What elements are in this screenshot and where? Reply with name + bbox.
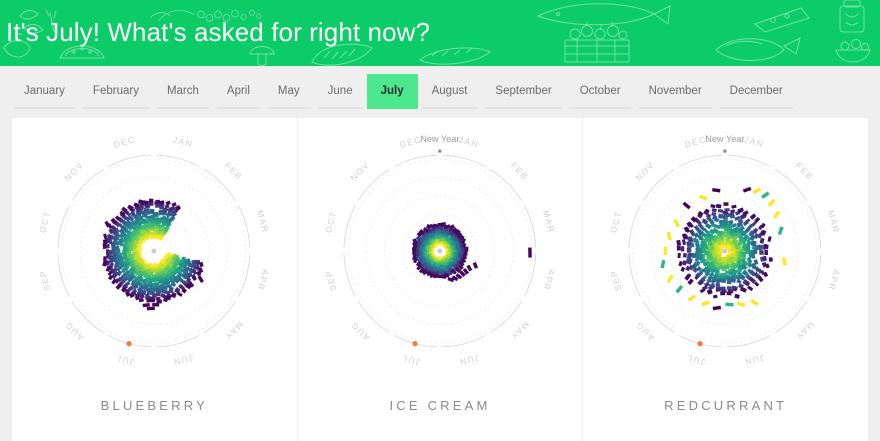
outlier-marker (472, 262, 477, 269)
month-label-mar: MAR (826, 209, 842, 234)
data-marker (737, 279, 742, 284)
tab-underline (570, 107, 631, 109)
outlier-marker (676, 285, 684, 293)
data-marker (712, 212, 717, 217)
data-marker (679, 261, 683, 267)
page-header-banner: It's July! What's asked for right now? (0, 0, 880, 66)
outlier-marker (664, 247, 667, 255)
data-marker (711, 204, 716, 208)
data-marker (682, 239, 686, 245)
data-marker (681, 246, 685, 251)
month-label-feb: FEB (794, 160, 816, 182)
tab-january[interactable]: January (10, 74, 79, 109)
month-label-jul: JUL (114, 353, 136, 368)
tab-underline (318, 107, 363, 109)
data-marker (716, 204, 722, 208)
month-label-feb: FEB (508, 160, 530, 182)
annotation-dot (723, 149, 726, 152)
data-marker (723, 211, 728, 214)
tab-february[interactable]: February (79, 74, 153, 109)
data-marker (760, 250, 764, 255)
month-label-jun: JUN (172, 353, 195, 368)
data-marker (722, 279, 726, 283)
tab-label: July (381, 85, 404, 97)
data-marker (149, 202, 154, 206)
tab-march[interactable]: March (153, 74, 213, 109)
chart-title: BLUEBERRY (101, 398, 208, 414)
data-marker (106, 249, 109, 254)
data-marker (109, 250, 113, 255)
tab-label: April (227, 85, 250, 97)
month-label-apr: APR (541, 268, 556, 292)
tab-underline (720, 107, 793, 109)
tab-august[interactable]: August (418, 74, 482, 109)
tab-underline (422, 107, 478, 109)
month-label-jul: JUL (685, 353, 707, 368)
outlier-marker (683, 202, 691, 210)
data-marker (153, 212, 159, 215)
outlier-marker (768, 199, 776, 207)
month-label-oct: OCT (37, 210, 53, 234)
data-marker (165, 201, 170, 206)
outlier-marker (751, 299, 760, 306)
data-marker (713, 295, 718, 299)
outlier-marker (674, 219, 681, 228)
data-marker (148, 283, 153, 287)
outlier-marker (753, 188, 762, 195)
outlier-marker (713, 306, 721, 310)
data-marker (765, 250, 769, 256)
month-label-sep: SEP (323, 268, 338, 292)
month-label-may: MAY (508, 319, 531, 342)
month-label-jul: JUL (399, 353, 421, 368)
data-marker (751, 253, 755, 258)
data-marker (724, 202, 729, 206)
tab-label: September (495, 85, 551, 97)
outlier-marker (688, 294, 696, 301)
tab-label: November (649, 85, 702, 97)
data-marker (768, 236, 772, 242)
data-marker (678, 253, 681, 258)
outlier-marker (667, 275, 674, 284)
tab-underline (83, 107, 149, 109)
outlier-marker (143, 303, 150, 307)
tab-label: June (328, 85, 353, 97)
outlier-marker (712, 188, 720, 192)
new-year-annotation: New Year (706, 134, 745, 153)
chart-title: REDCURRANT (664, 398, 787, 414)
annotation-label: New Year (706, 134, 745, 144)
data-marker (677, 246, 681, 251)
outlier-marker (773, 210, 780, 218)
month-label-jan: JAN (743, 134, 766, 149)
outlier-marker (778, 226, 784, 235)
data-marker (437, 275, 442, 278)
chart-card-ice-cream[interactable]: JANFEBMARAPRMAYJUNJULAUGSEPOCTNOVDECNew … (298, 118, 584, 441)
tab-label: February (93, 85, 139, 97)
tab-july[interactable]: July (367, 74, 418, 109)
month-label-oct: OCT (323, 210, 339, 234)
outlier-marker (667, 232, 672, 241)
tab-december[interactable]: December (716, 74, 797, 109)
outlier-marker (737, 301, 746, 307)
month-label-jan: JAN (172, 134, 195, 149)
month-label-may: MAY (794, 319, 817, 342)
outlier-marker (661, 260, 666, 269)
tab-underline (14, 107, 75, 109)
data-marker (696, 248, 700, 253)
tab-underline (268, 107, 310, 109)
tab-may[interactable]: May (264, 74, 314, 109)
month-label-jun: JUN (743, 353, 766, 368)
outlier-marker (147, 307, 155, 311)
data-marker (687, 248, 690, 252)
outlier-marker (782, 257, 787, 265)
month-label-apr: APR (827, 268, 842, 292)
tab-label: August (432, 85, 468, 97)
data-marker (731, 209, 736, 213)
chart-canvas: JANFEBMARAPRMAYJUNJULAUGSEPOCTNOVDECNew … (298, 118, 583, 380)
outlier-marker (743, 187, 752, 193)
outlier-marker (152, 303, 159, 307)
outlier-marker (726, 302, 734, 306)
data-marker (146, 299, 151, 303)
chart-canvas: JANFEBMARAPRMAYJUNJULAUGSEPOCTNOVDECNew … (583, 118, 868, 380)
polar-chart: JANFEBMARAPRMAYJUNJULAUGSEPOCTNOVDEC (12, 118, 297, 380)
data-marker (732, 205, 737, 209)
month-label-dec: DEC (112, 134, 136, 150)
today-marker (126, 341, 131, 346)
center-dot (437, 249, 442, 254)
data-marker (723, 219, 728, 223)
data-marker (716, 283, 721, 287)
chart-title: ICE CREAM (389, 398, 490, 414)
month-label-nov: NOV (62, 159, 85, 182)
month-label-jun: JUN (457, 353, 480, 368)
center-dot (723, 249, 728, 254)
month-label-oct: OCT (608, 210, 624, 234)
data-marker (727, 291, 732, 295)
month-label-nov: NOV (348, 159, 371, 182)
tab-october[interactable]: October (566, 74, 635, 109)
data-marker (199, 262, 204, 267)
data-marker (677, 240, 682, 246)
data-marker (171, 202, 176, 207)
month-label-jan: JAN (457, 134, 480, 149)
month-tab-bar: JanuaryFebruaryMarchAprilMayJuneJulyAugu… (0, 66, 880, 118)
data-marker (760, 238, 765, 244)
month-label-aug: AUG (62, 319, 85, 342)
data-marker (747, 285, 753, 291)
data-marker (149, 199, 154, 203)
outlier-marker (528, 248, 532, 258)
data-marker (728, 220, 734, 225)
data-marker (721, 291, 726, 295)
tab-label: May (278, 85, 300, 97)
month-label-sep: SEP (37, 268, 52, 292)
data-marker (721, 287, 726, 291)
month-label-nov: NOV (634, 159, 657, 182)
tab-underline (639, 107, 712, 109)
month-label-aug: AUG (634, 319, 657, 342)
tab-underline (157, 107, 209, 109)
data-marker (688, 278, 694, 285)
data-marker (149, 209, 154, 212)
polar-chart: JANFEBMARAPRMAYJUNJULAUGSEPOCTNOVDECNew … (583, 118, 868, 380)
data-marker (102, 260, 107, 266)
month-label-dec: DEC (398, 134, 422, 150)
today-marker (412, 341, 417, 346)
chart-card-row: JANFEBMARAPRMAYJUNJULAUGSEPOCTNOVDECBLUE… (12, 118, 868, 441)
center-dot (151, 249, 156, 254)
data-marker (735, 294, 741, 299)
data-marker (769, 257, 773, 262)
data-marker (681, 267, 686, 272)
data-marker (754, 249, 757, 254)
tab-label: October (580, 85, 621, 97)
data-marker (718, 209, 724, 213)
month-label-dec: DEC (684, 134, 708, 150)
data-marker (103, 233, 107, 239)
data-marker (759, 245, 763, 250)
tab-april[interactable]: April (213, 74, 264, 109)
month-label-apr: APR (255, 268, 270, 292)
tab-september[interactable]: September (481, 74, 565, 109)
annotation-dot (438, 149, 441, 152)
month-label-feb: FEB (223, 160, 245, 182)
tab-june[interactable]: June (314, 74, 367, 109)
polar-chart: JANFEBMARAPRMAYJUNJULAUGSEPOCTNOVDECNew … (298, 118, 583, 380)
chart-card-blueberry[interactable]: JANFEBMARAPRMAYJUNJULAUGSEPOCTNOVDECBLUE… (12, 118, 298, 441)
data-marker (156, 299, 162, 304)
data-marker (712, 208, 717, 212)
tab-label: January (24, 85, 65, 97)
tab-label: December (730, 85, 783, 97)
tab-underline (217, 107, 260, 109)
data-marker (687, 253, 692, 258)
month-label-aug: AUG (348, 319, 371, 342)
data-points (412, 222, 532, 282)
data-marker (727, 280, 732, 284)
outlier-marker (702, 300, 711, 306)
app-root: It's July! What's asked for right now? J… (0, 0, 880, 441)
month-label-mar: MAR (541, 209, 557, 234)
month-label-mar: MAR (255, 209, 271, 234)
data-marker (103, 256, 107, 261)
outlier-marker (762, 191, 770, 198)
tab-label: March (167, 85, 199, 97)
data-marker (683, 253, 687, 258)
data-marker (765, 244, 769, 249)
tab-underline (371, 107, 414, 109)
new-year-annotation: New Year (420, 134, 459, 153)
month-label-sep: SEP (608, 268, 623, 292)
month-label-may: MAY (222, 319, 245, 342)
outlier-marker (699, 195, 708, 201)
data-points (102, 199, 204, 311)
today-marker (698, 341, 703, 346)
tab-underline (485, 107, 561, 109)
annotation-label: New Year (420, 134, 459, 144)
data-points (661, 187, 787, 310)
chart-card-redcurrant[interactable]: JANFEBMARAPRMAYJUNJULAUGSEPOCTNOVDECNew … (583, 118, 868, 441)
chart-canvas: JANFEBMARAPRMAYJUNJULAUGSEPOCTNOVDEC (12, 118, 297, 380)
tab-november[interactable]: November (635, 74, 716, 109)
data-marker (719, 214, 724, 218)
page-title: It's July! What's asked for right now? (6, 14, 430, 50)
